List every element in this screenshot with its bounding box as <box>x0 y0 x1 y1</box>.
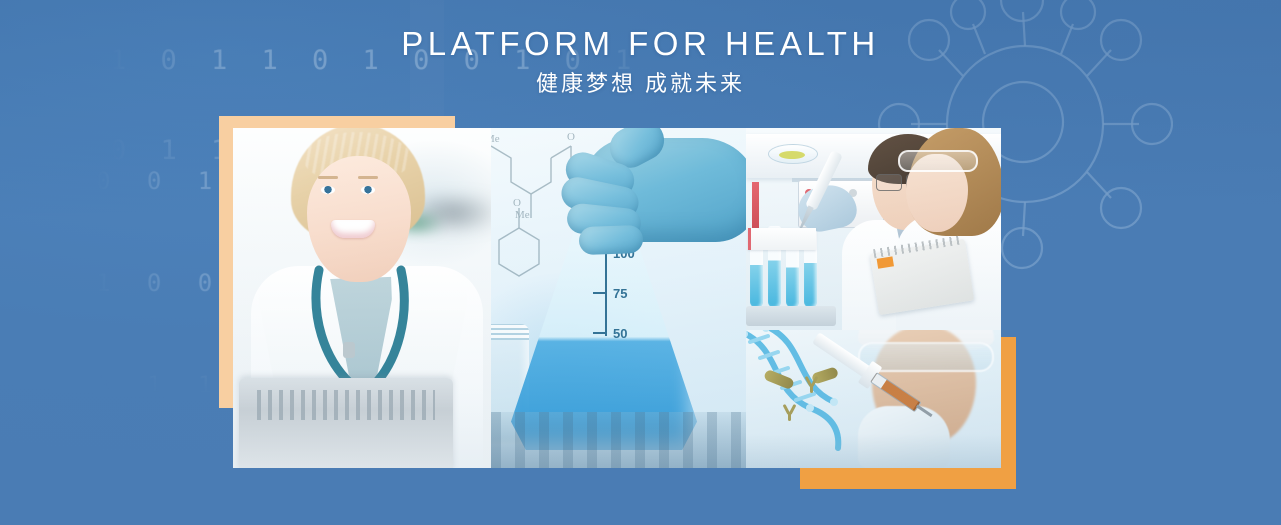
syringe-needle <box>916 405 933 418</box>
collage-photos: Me O OH Me O 100 <box>233 128 1001 468</box>
photo-blue-flask: Me O OH Me O 100 <box>491 128 746 468</box>
antibody-icon <box>782 404 798 420</box>
test-tube-rack <box>746 206 838 326</box>
lab-bench-surface <box>491 412 746 468</box>
doctor-eyebrow-left <box>318 176 338 179</box>
dna-foreground-blur <box>746 434 1001 468</box>
photo-collage: Me O OH Me O 100 <box>219 116 1029 496</box>
photo-dna-researcher <box>746 330 1001 468</box>
banner-headings: PLATFORM FOR HEALTH 健康梦想 成就未来 <box>0 24 1281 100</box>
doctor-eyebrow-right <box>358 176 378 179</box>
test-tube-label <box>748 228 816 250</box>
photo-smiling-doctor <box>233 128 491 468</box>
glove-finger <box>579 225 644 255</box>
petri-dish <box>768 144 818 164</box>
rack-base <box>746 306 836 326</box>
page-title: PLATFORM FOR HEALTH <box>0 24 1281 64</box>
computer-monitor <box>239 378 453 468</box>
doctor-eye-right <box>361 186 375 194</box>
graduation-label-50: 50 <box>613 326 627 341</box>
graduation-tick <box>593 332 607 334</box>
health-platform-banner: 1 0 1 1 0 1 0 0 1 0 1 1 0 0 1 0 0 1 1 0 … <box>0 0 1281 525</box>
svg-text:O: O <box>513 197 521 209</box>
svg-text:Me: Me <box>491 133 500 145</box>
graduation-tick <box>593 292 607 294</box>
doctor-eye-left <box>321 186 335 194</box>
safety-goggles-icon <box>898 150 978 172</box>
photo-lab-team <box>746 128 1001 330</box>
doctor-smile <box>331 220 375 238</box>
gloved-hand <box>553 128 746 290</box>
page-subtitle: 健康梦想 成就未来 <box>0 68 1281 100</box>
